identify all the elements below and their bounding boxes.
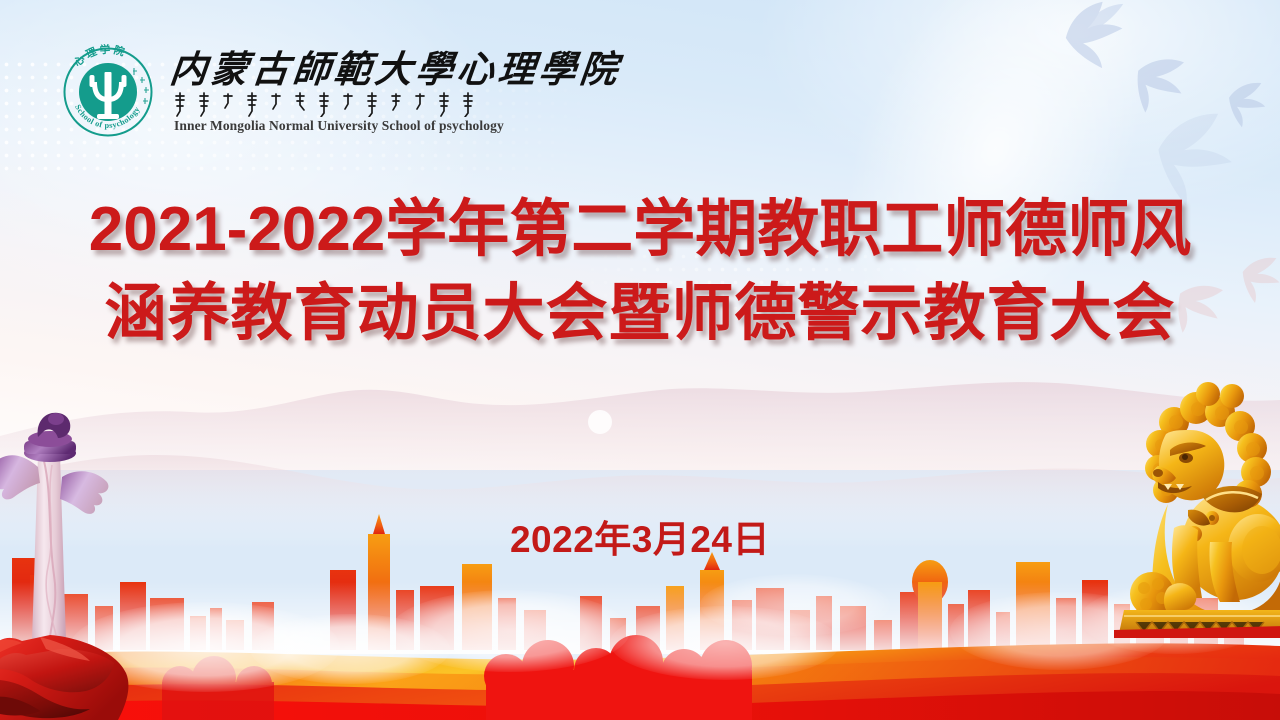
psi-circle-emblem-icon: 心 理 学 院 School of psychology	[58, 42, 156, 140]
institution-name-mongolian	[170, 91, 621, 117]
event-title-line-2: 涵养教育动员大会暨师德警示教育大会	[0, 272, 1280, 356]
mist-overlay	[0, 540, 1280, 710]
banner-canvas: 心 理 学 院 School of psychology 内蒙古師範大學心理學院	[0, 0, 1280, 720]
institution-header: 心 理 学 院 School of psychology 内蒙古師範大學心理學院	[58, 42, 621, 140]
event-title-line-1: 2021-2022学年第二学期教职工师德师风	[0, 188, 1280, 272]
institution-name-cn: 内蒙古師範大學心理學院	[168, 52, 623, 89]
institution-name-en: Inner Mongolia Normal University School …	[170, 118, 621, 134]
institution-name-block: 内蒙古師範大學心理學院	[170, 48, 621, 134]
event-title: 2021-2022学年第二学期教职工师德师风 涵养教育动员大会暨师德警示教育大会	[0, 188, 1280, 356]
event-date: 2022年3月24日	[0, 509, 1280, 563]
guardian-lion-statue-ornament	[1114, 378, 1280, 638]
